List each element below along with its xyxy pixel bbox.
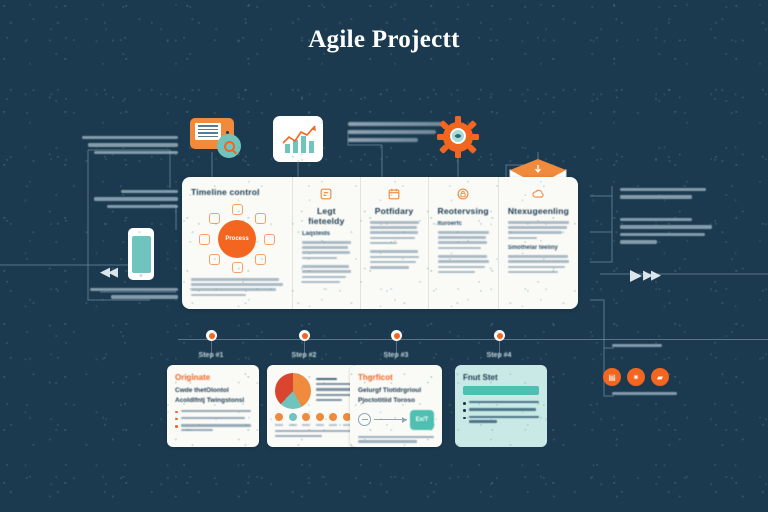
- column-heading: Legt fieteeldy: [302, 206, 351, 226]
- card-heading: Fnut Stet: [463, 373, 539, 382]
- card-subheading: Cwde thetOlontol Acoldlfntj Twingstonsl: [175, 386, 251, 406]
- smartphone-illustration: [128, 228, 154, 280]
- badge-cart-icon[interactable]: ▰: [651, 368, 669, 386]
- id-card-search-icon[interactable]: [190, 118, 234, 149]
- panel-column-2[interactable]: Legt fieteeldy Laqsteids: [292, 177, 360, 309]
- badge-calendar-icon[interactable]: ▤: [603, 368, 621, 386]
- column-body: [302, 241, 351, 259]
- column-caption: [370, 250, 419, 268]
- timeline-label-2: Step #2: [269, 352, 339, 359]
- badge-gear-icon[interactable]: ✷: [627, 368, 645, 386]
- panel-column-1[interactable]: Timeline control Process: [182, 177, 292, 309]
- timeline-marker-4[interactable]: [494, 330, 505, 341]
- annotation-mid-right: [620, 218, 712, 248]
- pie-legend-lines: [311, 378, 351, 404]
- list-item: [175, 410, 251, 414]
- top-icon-row: [0, 100, 768, 170]
- column-caption: [438, 255, 489, 273]
- list-item: [175, 424, 251, 433]
- card-heading: Thgrficot: [358, 373, 434, 382]
- card-pie-breakdown[interactable]: [267, 365, 359, 447]
- card-heading: Originate: [175, 373, 251, 382]
- column-body: [370, 221, 419, 244]
- list-item: [463, 401, 539, 405]
- pie-chart: [275, 373, 311, 409]
- card-bullet-list: [175, 410, 251, 434]
- annotation-mid-left: [94, 190, 178, 212]
- card-caption: [275, 430, 351, 437]
- cloud-icon: [531, 187, 545, 201]
- annotation-top-left: [82, 136, 178, 158]
- column-caption: [508, 255, 569, 273]
- annotation-top-right: [620, 188, 706, 203]
- list-item: [463, 408, 539, 412]
- flow-start-node: [358, 413, 371, 426]
- metric-dots-row: [275, 413, 351, 421]
- timeline-marker-3[interactable]: [391, 330, 402, 341]
- column-heading: Ntexugeenling: [508, 206, 569, 216]
- panel-column-4[interactable]: Reotervsing Ituroerfc: [428, 177, 498, 309]
- column-heading: Reotervsing: [438, 206, 489, 216]
- bar-chart-card-icon[interactable]: [273, 116, 323, 162]
- timeline-axis: [178, 339, 768, 340]
- card-originate[interactable]: Originate Cwde thetOlontol Acoldlfntj Tw…: [167, 365, 259, 447]
- card-text-lines: [195, 123, 221, 140]
- gear-icon[interactable]: [436, 115, 480, 159]
- flow-arrow: [374, 419, 407, 420]
- column-subheading: Ituroerfc: [438, 221, 489, 227]
- column-caption: [191, 278, 283, 296]
- column-heading: Timeline control: [191, 187, 283, 197]
- bottom-right-label: [612, 344, 682, 351]
- sunburst-center-label: Process: [218, 220, 256, 258]
- timeline-marker-1[interactable]: [206, 330, 217, 341]
- clipboard-icon: [319, 187, 333, 201]
- bottom-right-badges: ▤ ✷ ▰: [603, 368, 669, 386]
- card-bullet-list: [463, 401, 539, 425]
- card-caption: [358, 436, 434, 443]
- column-subheading-2: Smothelar teeliny: [508, 245, 569, 251]
- panel-column-3[interactable]: Potfidary: [360, 177, 428, 309]
- column-body: [438, 231, 489, 249]
- timeline-label-1: Step #1: [176, 352, 246, 359]
- bottom-right-caption: [612, 392, 688, 399]
- chevron-right-icon[interactable]: ▶▶: [643, 267, 659, 283]
- sunburst-clock-icon: Process: [191, 202, 283, 274]
- column-caption: [302, 265, 351, 283]
- card-final-start[interactable]: Fnut Stet: [455, 365, 547, 447]
- card-flow[interactable]: Thgrficot Gelurgf Tlotidrgrioul Pjoctoti…: [350, 365, 442, 447]
- calendar-icon: [387, 187, 401, 201]
- card-subheading: Gelurgf Tlotidrgrioul Pjoctotitiid Toros…: [358, 386, 434, 406]
- arrow-right-head: [630, 270, 642, 282]
- timeline-label-3: Step #3: [361, 352, 431, 359]
- list-item: [175, 417, 251, 421]
- search-icon: [217, 134, 241, 158]
- chevron-left-icon[interactable]: ◀◀: [100, 264, 116, 280]
- phone-home-button: [140, 274, 143, 277]
- column-heading: Potfidary: [370, 206, 419, 216]
- flow-diagram: Ex/T: [358, 410, 434, 430]
- column-subheading: Laqsteids: [302, 231, 351, 237]
- main-feature-panel: Timeline control Process Legt fieteeldy …: [182, 177, 578, 309]
- card-highlight-bar: [463, 386, 539, 395]
- lock-icon: [456, 187, 470, 201]
- timeline-marker-2[interactable]: [299, 330, 310, 341]
- phone-screen: [132, 236, 151, 273]
- list-item: [463, 416, 539, 425]
- annotation-bottom-left: [82, 288, 178, 303]
- metric-dot-labels: [275, 424, 351, 426]
- blurred-note-text: [348, 122, 444, 146]
- flow-end-node: Ex/T: [410, 410, 434, 430]
- column-body: [508, 221, 569, 239]
- timeline-label-4: Step #4: [464, 352, 534, 359]
- pie-chart-block: [275, 373, 351, 409]
- panel-column-5[interactable]: Ntexugeenling Smothelar teeliny: [498, 177, 578, 309]
